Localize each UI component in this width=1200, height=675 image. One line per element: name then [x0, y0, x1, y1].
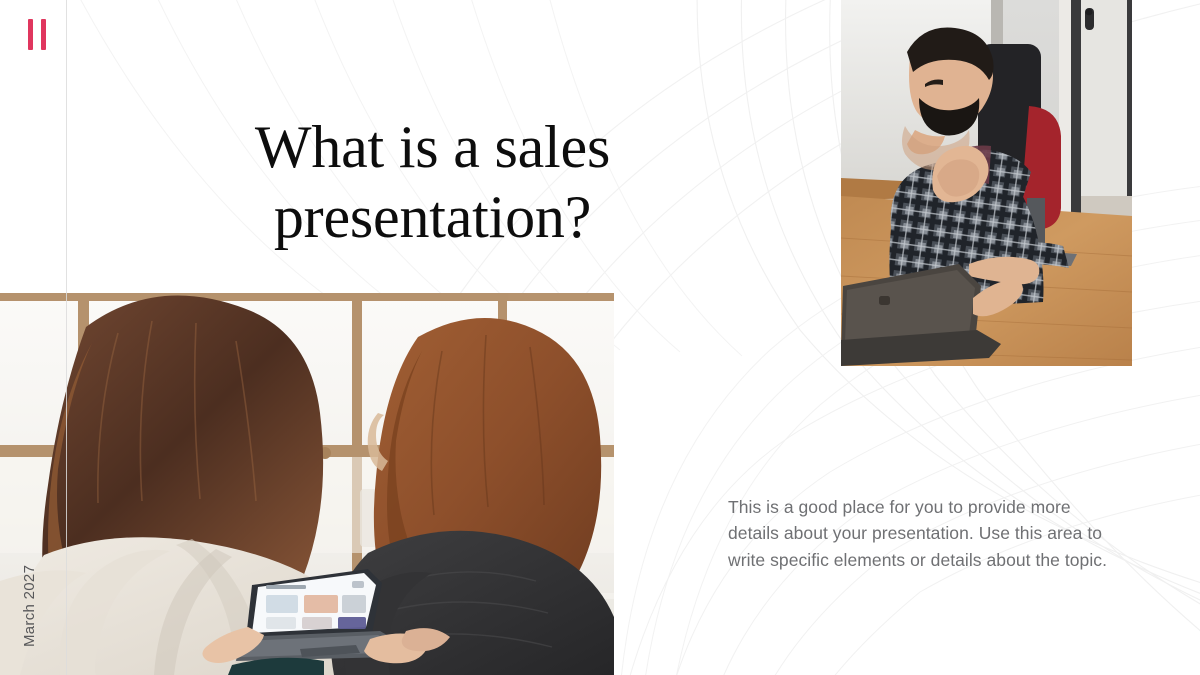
logo-bar-left	[28, 19, 33, 50]
photo-man-laptop	[841, 0, 1132, 366]
presentation-slide: What is a sales presentation?	[0, 0, 1200, 675]
date-label: March 2027	[21, 565, 38, 647]
slide-title: What is a sales presentation?	[180, 112, 685, 252]
photo-women-laptop	[0, 293, 614, 675]
logo-mark[interactable]	[28, 19, 46, 50]
vertical-divider-rule	[66, 0, 67, 675]
logo-bar-right	[41, 19, 46, 50]
body-paragraph: This is a good place for you to provide …	[728, 494, 1110, 574]
